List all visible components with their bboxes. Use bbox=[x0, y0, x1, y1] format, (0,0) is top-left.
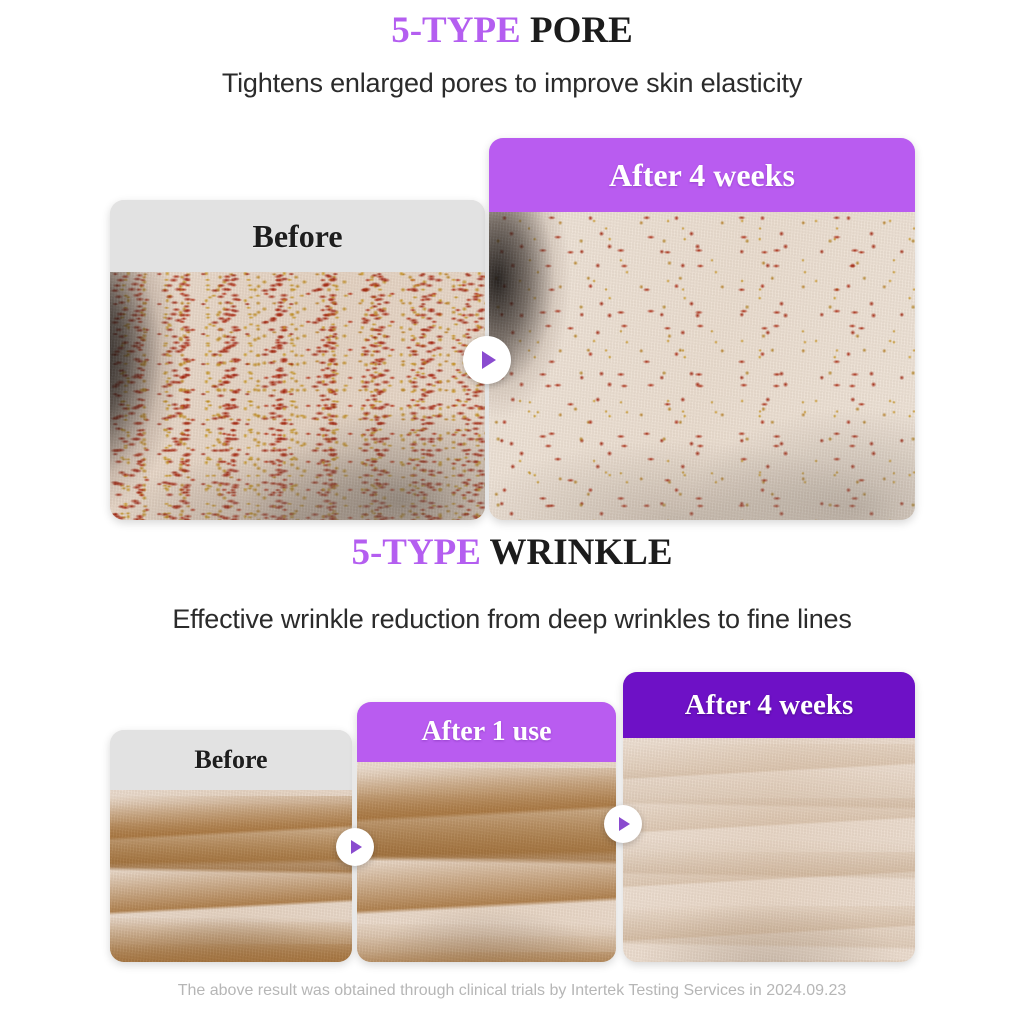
wrinkle-before-image bbox=[110, 790, 352, 962]
skin-micro-texture bbox=[489, 212, 915, 520]
pore-before-label: Before bbox=[252, 220, 342, 252]
pore-section-title: 5-TYPE PORE bbox=[0, 12, 1024, 49]
pore-before-panel[interactable]: Before bbox=[110, 200, 485, 520]
skin-micro-texture bbox=[623, 738, 915, 962]
play-triangle-icon bbox=[619, 817, 630, 831]
pore-before-image bbox=[110, 272, 485, 520]
wrinkle-after-four-weeks-image bbox=[623, 738, 915, 962]
wrinkle-before-panel[interactable]: Before bbox=[110, 730, 352, 962]
wrinkle-section-title: 5-TYPE WRINKLE bbox=[0, 534, 1024, 571]
wrinkle-after-one-use-header: After 1 use bbox=[357, 702, 616, 762]
pore-after-panel[interactable]: After 4 weeks bbox=[489, 138, 915, 520]
wrinkle-after-four-weeks-header: After 4 weeks bbox=[623, 672, 915, 738]
play-button-wrinkle-1[interactable] bbox=[336, 828, 374, 866]
wrinkle-title-accent: 5-TYPE bbox=[351, 532, 489, 573]
play-triangle-icon bbox=[351, 840, 362, 854]
skin-micro-texture bbox=[357, 762, 616, 962]
pore-after-image bbox=[489, 212, 915, 520]
wrinkle-title-main: WRINKLE bbox=[490, 532, 673, 573]
skin-micro-texture bbox=[110, 272, 485, 520]
pore-after-label: After 4 weeks bbox=[609, 159, 795, 191]
pore-before-header: Before bbox=[110, 200, 485, 272]
pore-section-subtitle: Tightens enlarged pores to improve skin … bbox=[0, 68, 1024, 99]
wrinkle-after-one-use-label: After 1 use bbox=[421, 718, 551, 746]
pore-title-main: PORE bbox=[530, 10, 633, 51]
pore-after-header: After 4 weeks bbox=[489, 138, 915, 212]
pore-title-accent: 5-TYPE bbox=[391, 10, 530, 51]
wrinkle-after-four-weeks-label: After 4 weeks bbox=[685, 691, 854, 720]
wrinkle-before-header: Before bbox=[110, 730, 352, 790]
play-button-wrinkle-2[interactable] bbox=[604, 805, 642, 843]
skin-micro-texture bbox=[110, 790, 352, 962]
wrinkle-before-label: Before bbox=[194, 747, 267, 773]
play-button-pore[interactable] bbox=[463, 336, 511, 384]
wrinkle-after-one-use-image bbox=[357, 762, 616, 962]
wrinkle-section-subtitle: Effective wrinkle reduction from deep wr… bbox=[0, 604, 1024, 635]
wrinkle-after-one-use-panel[interactable]: After 1 use bbox=[357, 702, 616, 962]
wrinkle-after-four-weeks-panel[interactable]: After 4 weeks bbox=[623, 672, 915, 962]
clinical-trial-footnote: The above result was obtained through cl… bbox=[0, 982, 1024, 1000]
play-triangle-icon bbox=[482, 351, 496, 369]
